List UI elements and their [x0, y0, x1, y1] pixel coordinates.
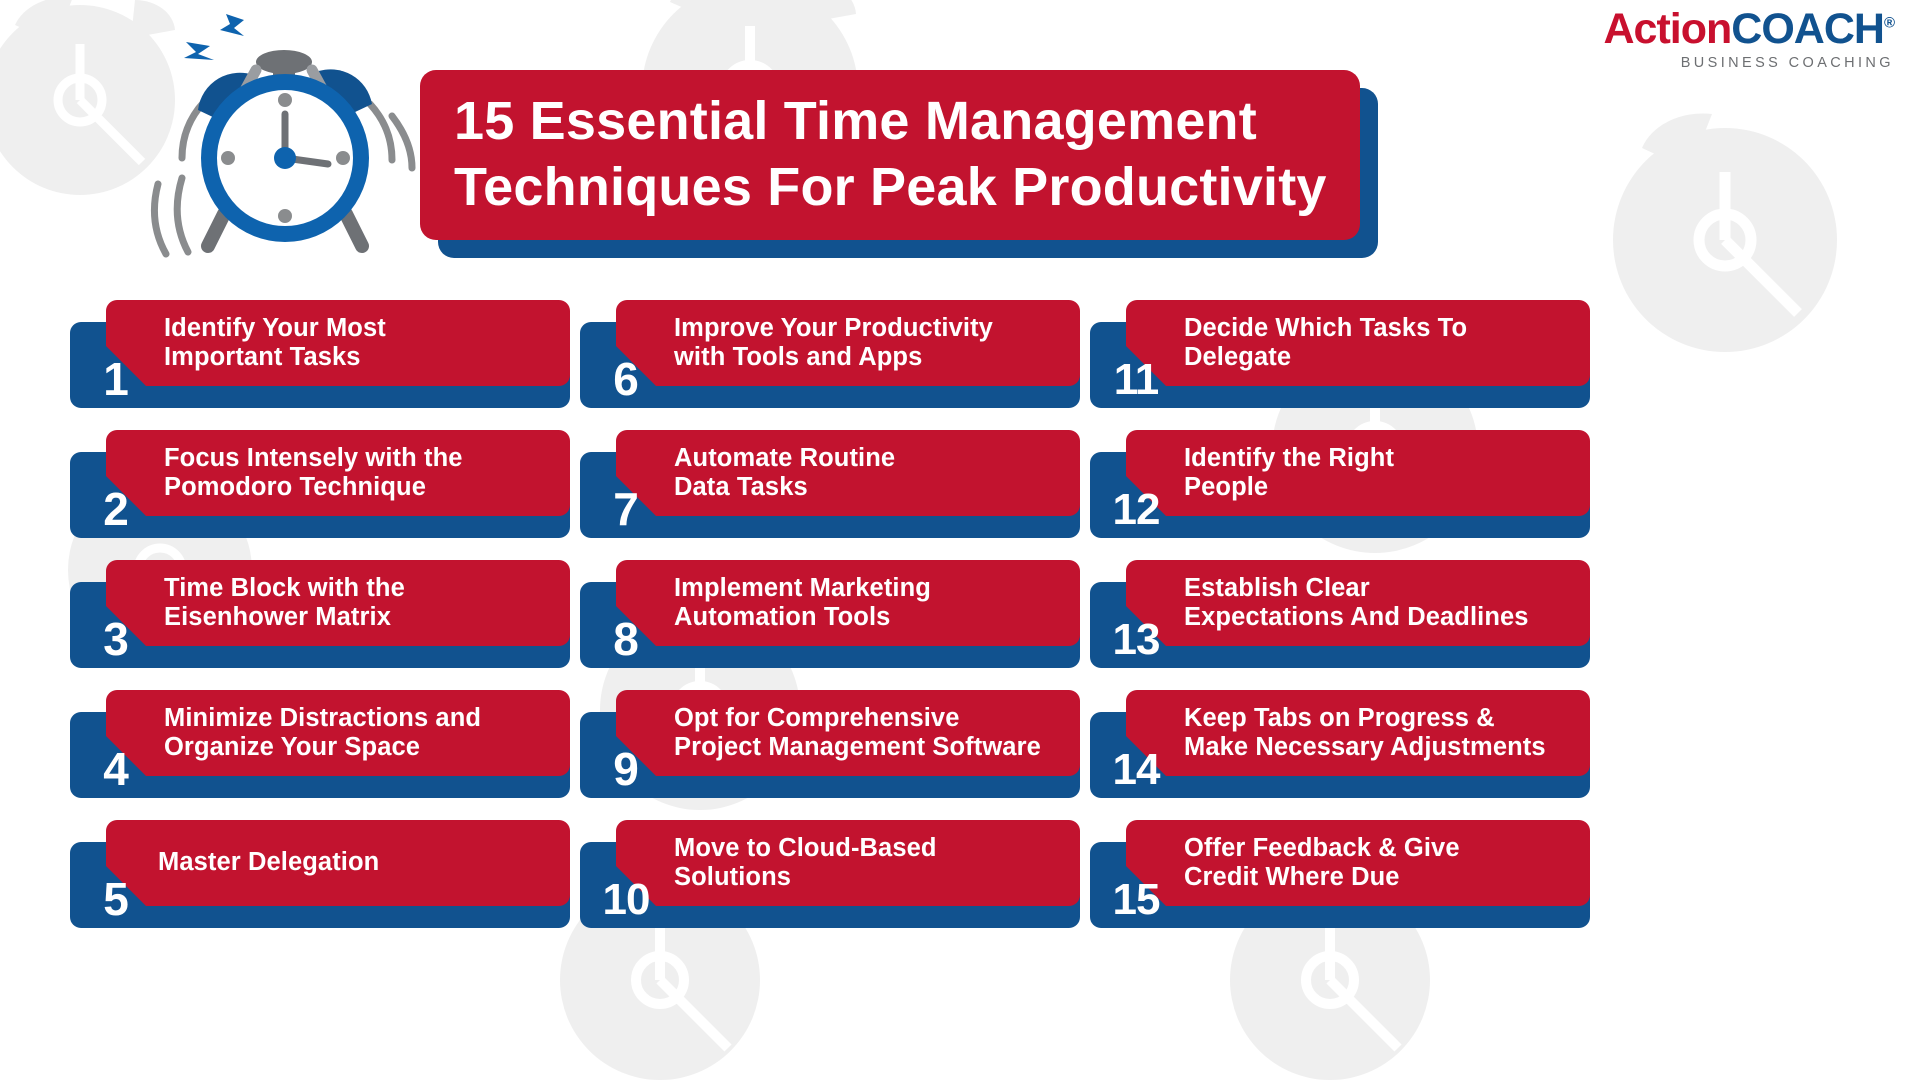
card-label-line-2: Project Management Software: [674, 733, 1041, 762]
card-red-panel: Automate RoutineData Tasks: [616, 430, 1080, 516]
card-label-line-1: Establish Clear: [1184, 574, 1529, 603]
card-label-line-2: Credit Where Due: [1184, 863, 1460, 892]
technique-card-13[interactable]: Establish ClearExpectations And Deadline…: [1090, 560, 1590, 668]
technique-card-10[interactable]: Move to Cloud-BasedSolutions10: [580, 820, 1080, 928]
card-label: Keep Tabs on Progress &Make Necessary Ad…: [1184, 704, 1546, 762]
card-label: Minimize Distractions andOrganize Your S…: [164, 704, 481, 762]
technique-card-12[interactable]: Identify the RightPeople12: [1090, 430, 1590, 538]
card-number-badge: 10: [594, 846, 658, 926]
card-label: Decide Which Tasks ToDelegate: [1184, 314, 1467, 372]
card-number-badge: 5: [84, 846, 148, 926]
card-label-line-2: Solutions: [674, 863, 937, 892]
technique-cards-grid: Identify Your MostImportant Tasks1Focus …: [0, 0, 1920, 1080]
card-label: Move to Cloud-BasedSolutions: [674, 834, 937, 892]
card-label: Establish ClearExpectations And Deadline…: [1184, 574, 1529, 632]
card-label-line-1: Improve Your Productivity: [674, 314, 993, 343]
card-number-badge: 11: [1104, 326, 1168, 406]
card-number-badge: 15: [1104, 846, 1168, 926]
card-label-line-1: Automate Routine: [674, 444, 895, 473]
card-label: Implement MarketingAutomation Tools: [674, 574, 931, 632]
technique-card-7[interactable]: Automate RoutineData Tasks7: [580, 430, 1080, 538]
card-label-line-2: Delegate: [1184, 343, 1467, 372]
card-label-line-2: Expectations And Deadlines: [1184, 603, 1529, 632]
card-label-line-1: Move to Cloud-Based: [674, 834, 937, 863]
card-label-line-1: Master Delegation: [158, 848, 379, 877]
card-label: Identify Your MostImportant Tasks: [164, 314, 386, 372]
card-label: Master Delegation: [158, 848, 379, 877]
card-red-panel: Improve Your Productivitywith Tools and …: [616, 300, 1080, 386]
card-red-panel: Establish ClearExpectations And Deadline…: [1126, 560, 1590, 646]
card-number-badge: 3: [84, 586, 148, 666]
card-label-line-1: Decide Which Tasks To: [1184, 314, 1467, 343]
card-label-line-2: Automation Tools: [674, 603, 931, 632]
technique-card-5[interactable]: Master Delegation5: [70, 820, 570, 928]
card-label-line-2: Pomodoro Technique: [164, 473, 463, 502]
card-label-line-2: Make Necessary Adjustments: [1184, 733, 1546, 762]
card-number-badge: 7: [594, 456, 658, 536]
card-number-badge: 4: [84, 716, 148, 796]
technique-card-3[interactable]: Time Block with theEisenhower Matrix3: [70, 560, 570, 668]
card-red-panel: Focus Intensely with thePomodoro Techniq…: [106, 430, 570, 516]
card-number-badge: 6: [594, 326, 658, 406]
technique-card-9[interactable]: Opt for ComprehensiveProject Management …: [580, 690, 1080, 798]
card-number-badge: 2: [84, 456, 148, 536]
card-red-panel: Opt for ComprehensiveProject Management …: [616, 690, 1080, 776]
technique-card-2[interactable]: Focus Intensely with thePomodoro Techniq…: [70, 430, 570, 538]
card-label-line-1: Identify the Right: [1184, 444, 1394, 473]
card-number-badge: 12: [1104, 456, 1168, 536]
card-label-line-2: Data Tasks: [674, 473, 895, 502]
technique-card-4[interactable]: Minimize Distractions andOrganize Your S…: [70, 690, 570, 798]
card-label-line-1: Focus Intensely with the: [164, 444, 463, 473]
technique-card-1[interactable]: Identify Your MostImportant Tasks1: [70, 300, 570, 408]
card-red-panel: Master Delegation: [106, 820, 570, 906]
card-number-badge: 8: [594, 586, 658, 666]
card-label: Improve Your Productivitywith Tools and …: [674, 314, 993, 372]
card-red-panel: Decide Which Tasks ToDelegate: [1126, 300, 1590, 386]
card-red-panel: Identify Your MostImportant Tasks: [106, 300, 570, 386]
card-label-line-1: Minimize Distractions and: [164, 704, 481, 733]
technique-card-6[interactable]: Improve Your Productivitywith Tools and …: [580, 300, 1080, 408]
card-label-line-2: Eisenhower Matrix: [164, 603, 405, 632]
card-label-line-2: Organize Your Space: [164, 733, 481, 762]
card-red-panel: Move to Cloud-BasedSolutions: [616, 820, 1080, 906]
card-label: Time Block with theEisenhower Matrix: [164, 574, 405, 632]
card-number-badge: 9: [594, 716, 658, 796]
card-red-panel: Implement MarketingAutomation Tools: [616, 560, 1080, 646]
technique-card-15[interactable]: Offer Feedback & GiveCredit Where Due15: [1090, 820, 1590, 928]
card-label: Offer Feedback & GiveCredit Where Due: [1184, 834, 1460, 892]
card-label-line-1: Keep Tabs on Progress &: [1184, 704, 1546, 733]
card-label-line-2: Important Tasks: [164, 343, 386, 372]
card-number-badge: 13: [1104, 586, 1168, 666]
card-label-line-2: with Tools and Apps: [674, 343, 993, 372]
card-red-panel: Keep Tabs on Progress &Make Necessary Ad…: [1126, 690, 1590, 776]
technique-card-11[interactable]: Decide Which Tasks ToDelegate11: [1090, 300, 1590, 408]
card-label: Focus Intensely with thePomodoro Techniq…: [164, 444, 463, 502]
card-label-line-1: Identify Your Most: [164, 314, 386, 343]
card-number-badge: 1: [84, 326, 148, 406]
card-number-badge: 14: [1104, 716, 1168, 796]
card-label-line-1: Offer Feedback & Give: [1184, 834, 1460, 863]
card-label: Opt for ComprehensiveProject Management …: [674, 704, 1041, 762]
card-red-panel: Identify the RightPeople: [1126, 430, 1590, 516]
card-label-line-1: Opt for Comprehensive: [674, 704, 1041, 733]
card-label: Automate RoutineData Tasks: [674, 444, 895, 502]
card-label-line-1: Time Block with the: [164, 574, 405, 603]
card-red-panel: Offer Feedback & GiveCredit Where Due: [1126, 820, 1590, 906]
card-red-panel: Minimize Distractions andOrganize Your S…: [106, 690, 570, 776]
infographic-canvas: ActionCOACH® BUSINESS COACHING: [0, 0, 1920, 1080]
card-label-line-1: Implement Marketing: [674, 574, 931, 603]
card-red-panel: Time Block with theEisenhower Matrix: [106, 560, 570, 646]
card-label: Identify the RightPeople: [1184, 444, 1394, 502]
card-label-line-2: People: [1184, 473, 1394, 502]
technique-card-14[interactable]: Keep Tabs on Progress &Make Necessary Ad…: [1090, 690, 1590, 798]
technique-card-8[interactable]: Implement MarketingAutomation Tools8: [580, 560, 1080, 668]
